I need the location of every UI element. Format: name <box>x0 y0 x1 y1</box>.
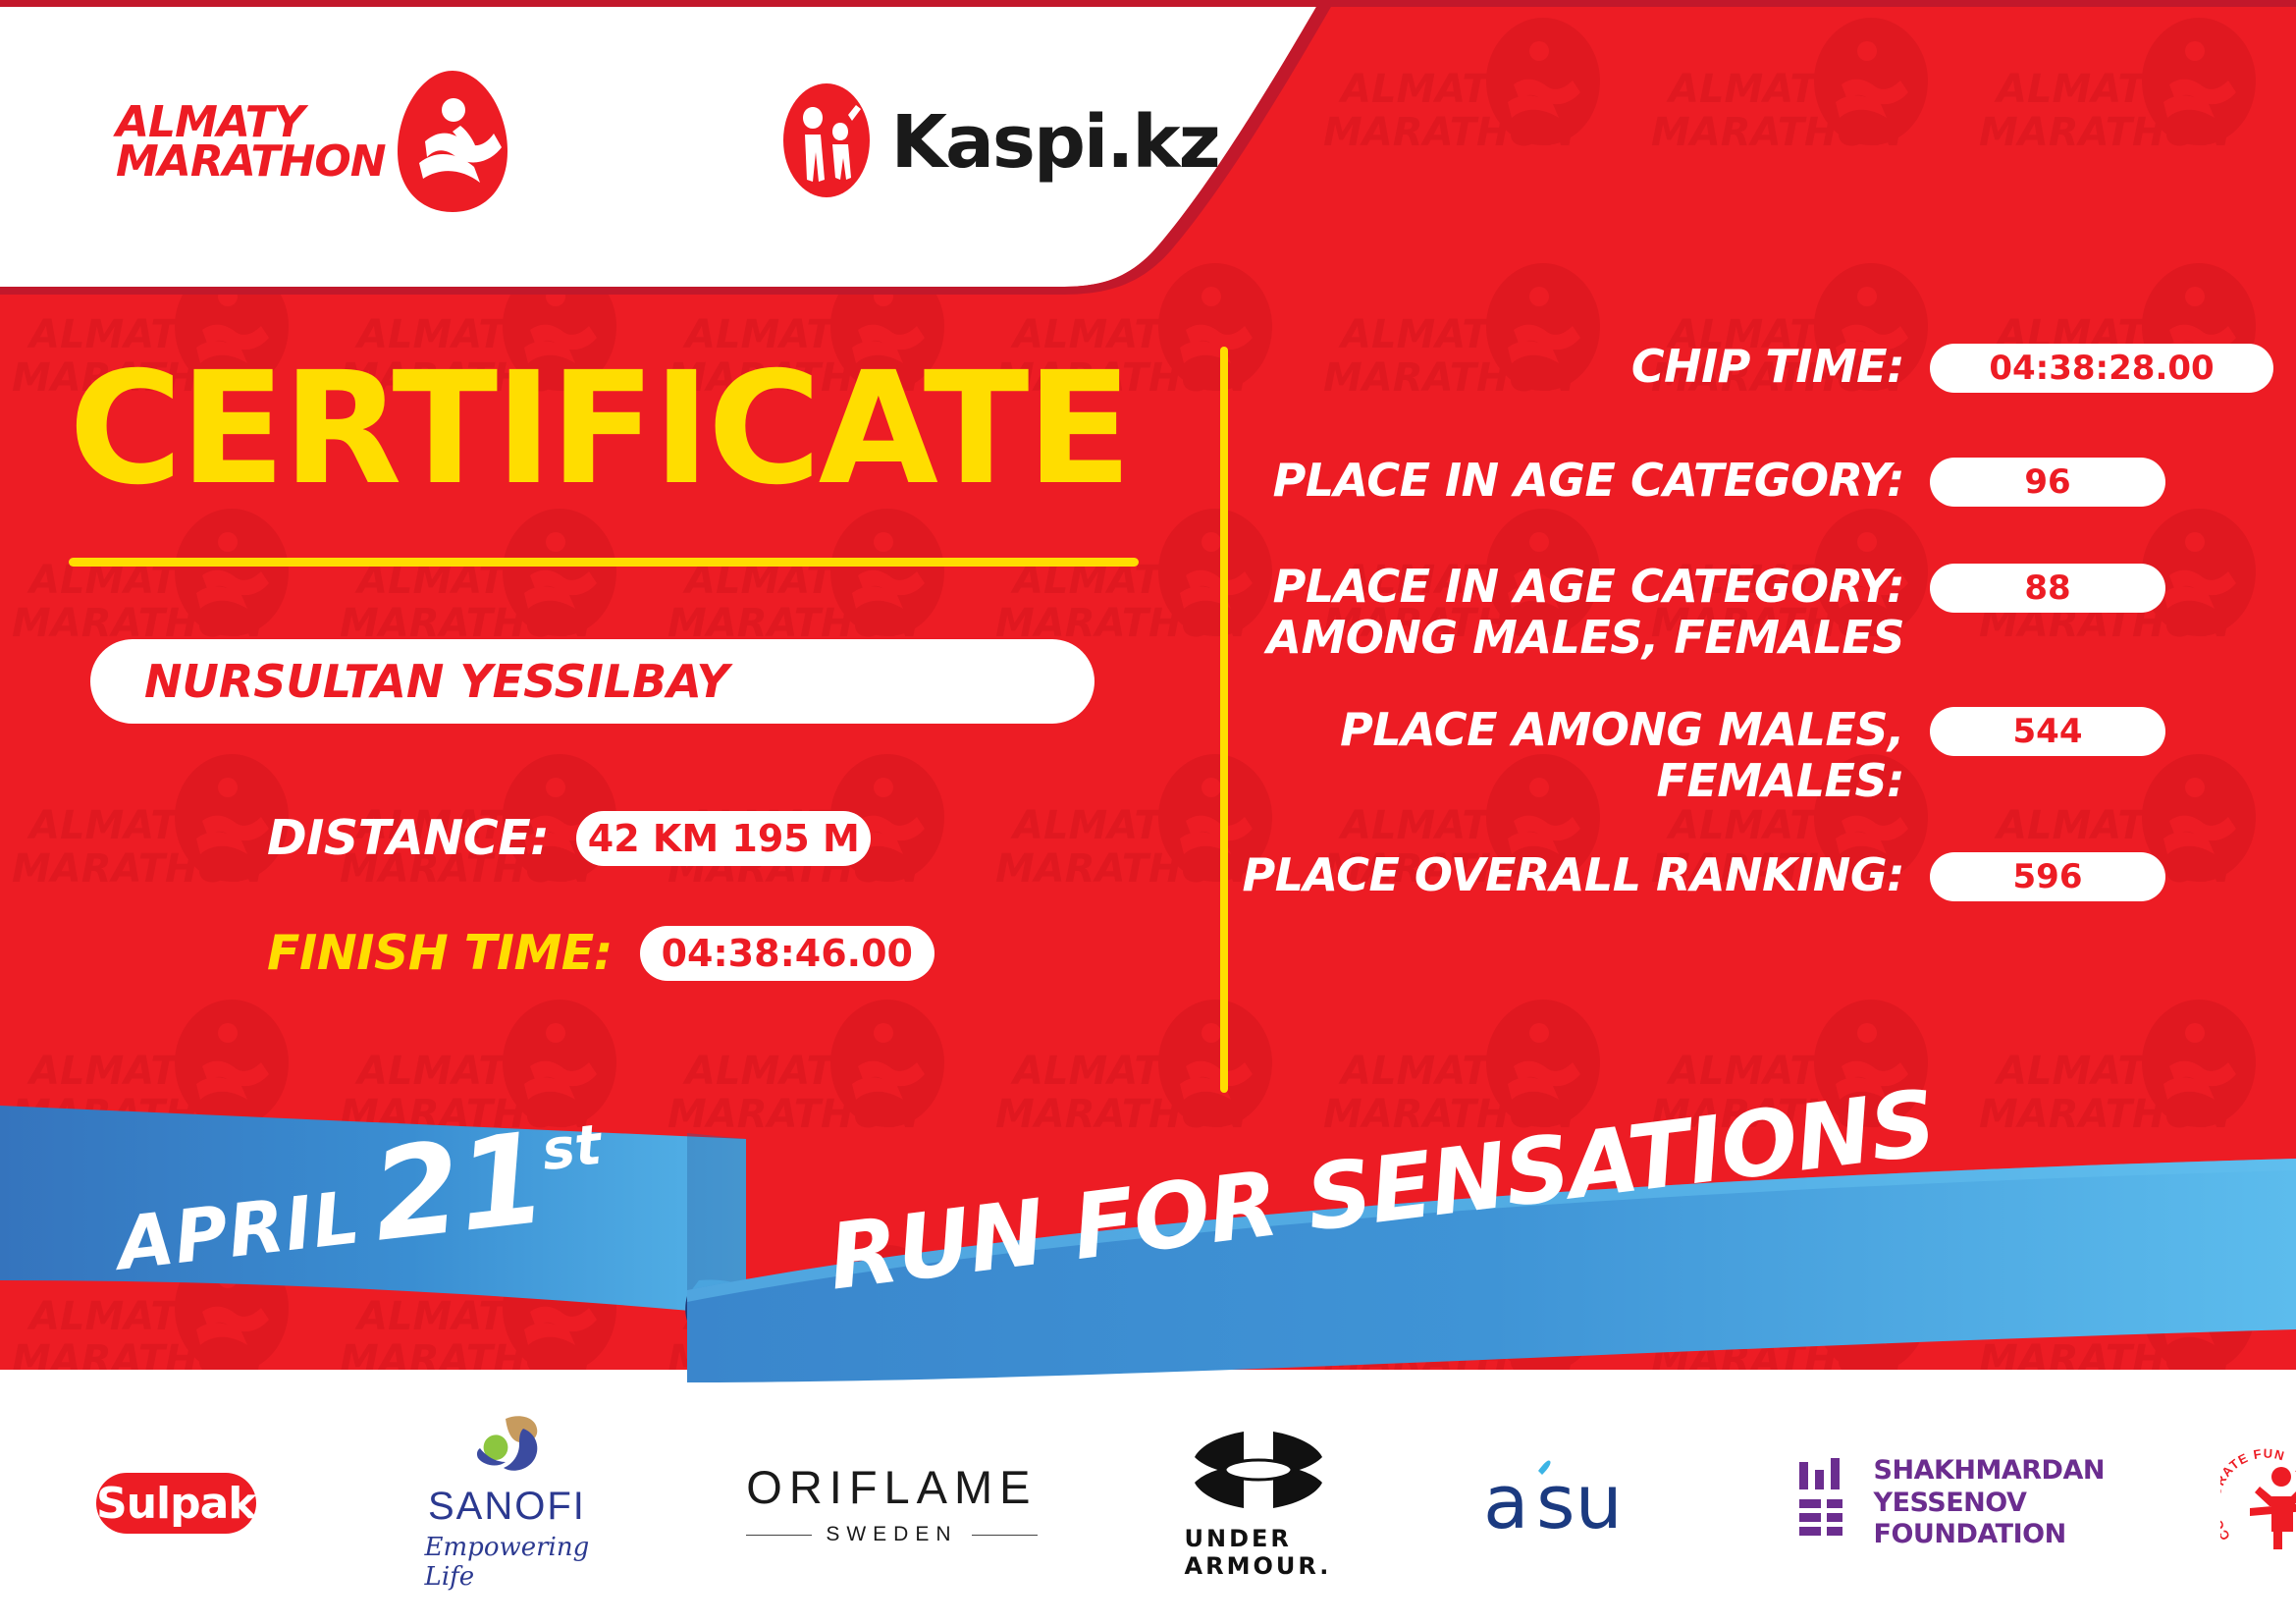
finish-time-value: 04:38:46.00 <box>662 932 913 975</box>
oriflame-wordmark: ORIFLAME <box>746 1460 1037 1514</box>
page-title: CERTIFICATE <box>61 352 1217 507</box>
top-accent-rule <box>0 0 2296 7</box>
stat-value-pill: 88 <box>1930 564 2165 613</box>
stat-label-line1: CHIP TIME: <box>1631 340 1904 393</box>
stat-value-pill: 04:38:28.00 <box>1930 344 2273 393</box>
stat-label: CHIP TIME: <box>1217 342 1904 393</box>
stat-value: 04:38:28.00 <box>1989 349 2214 388</box>
kaspi-people-icon <box>779 80 874 206</box>
sponsor-bar: Sulpak SANOFI Empowering Life ORIFLAME S… <box>0 1382 2296 1624</box>
stat-label-line1: PLACE IN AGE CATEGORY: <box>1273 560 1904 613</box>
oriflame-rule-left <box>746 1535 812 1536</box>
title-underline <box>69 558 1139 567</box>
oriflame-sub: SWEDEN <box>746 1523 1037 1546</box>
certificate-page: ALMATY MARATHON ALMATY MARATHON <box>0 0 2296 1624</box>
yessenov-line1: SHAKHMARDAN YESSENOV <box>1874 1455 2105 1519</box>
under-armour-wordmark: UNDER ARMOUR. <box>1185 1525 1332 1580</box>
ribbon-day: 21 <box>365 1106 552 1271</box>
stat-label-line1: PLACE OVERALL RANKING: <box>1243 848 1905 901</box>
distance-value-pill: 42 KM 195 M <box>576 811 871 866</box>
sulpak-wordmark: Sulpak <box>96 1479 256 1529</box>
sponsor-sulpak: Sulpak <box>96 1473 256 1534</box>
stat-value-pill: 596 <box>1930 852 2165 901</box>
oriflame-rule-right <box>972 1535 1038 1536</box>
runner-drop-icon <box>392 67 514 219</box>
finish-time-row: FINISH TIME: 04:38:46.00 <box>267 925 1217 981</box>
stat-value: 544 <box>2013 712 2083 751</box>
stat-value: 596 <box>2013 857 2083 896</box>
stat-row-place-overall-ranking: PLACE OVERALL RANKING: 596 <box>1217 850 2296 901</box>
participant-name-field: NURSULTAN YESSILBAY <box>90 639 1095 724</box>
yessenov-line2: FOUNDATION <box>1874 1519 2105 1550</box>
sponsor-under-armour: UNDER ARMOUR. <box>1185 1428 1332 1580</box>
stat-label: PLACE IN AGE CATEGORY: <box>1217 456 1904 507</box>
finish-time-value-pill: 04:38:46.00 <box>640 926 934 981</box>
stat-row-chip-time: CHIP TIME: 04:38:28.00 <box>1217 342 2296 393</box>
stat-label-line2: AMONG MALES, FEMALES <box>1217 613 1904 664</box>
stat-value-pill: 544 <box>1930 707 2165 756</box>
stat-label-line2: FEMALES: <box>1217 756 1904 807</box>
yessenov-icon <box>1793 1456 1852 1549</box>
stat-label-line1: PLACE IN AGE CATEGORY: <box>1273 454 1904 507</box>
sponsor-asu: a su <box>1479 1457 1656 1550</box>
oriflame-country: SWEDEN <box>812 1523 971 1546</box>
stat-label: PLACE IN AGE CATEGORY: AMONG MALES, FEMA… <box>1217 562 1904 664</box>
distance-label: DISTANCE: <box>267 810 549 866</box>
stat-row-place-age-category: PLACE IN AGE CATEGORY: 96 <box>1217 456 2296 507</box>
left-column: CERTIFICATE NURSULTAN YESSILBAY DISTANCE… <box>0 295 1217 1276</box>
sanofi-wordmark: SANOFI <box>428 1485 586 1529</box>
stats-list: CHIP TIME: 04:38:28.00 PLACE IN AGE CATE… <box>1217 342 2296 919</box>
ribbon-day-suffix: st <box>539 1113 605 1183</box>
distance-value: 42 KM 195 M <box>588 817 860 860</box>
sponsor-yessenov-foundation: SHAKHMARDAN YESSENOV FOUNDATION <box>1793 1455 2105 1550</box>
stat-row-place-age-category-among: PLACE IN AGE CATEGORY: AMONG MALES, FEMA… <box>1217 562 2296 664</box>
stat-row-place-among-males-females: PLACE AMONG MALES, FEMALES: 544 <box>1217 705 2296 807</box>
stat-value: 96 <box>2024 462 2070 502</box>
participant-name: NURSULTAN YESSILBAY <box>90 655 729 708</box>
kaspi-logo: Kaspi.kz <box>779 80 1219 206</box>
sponsor-sanofi: SANOFI Empowering Life <box>425 1415 590 1592</box>
stat-value-pill: 96 <box>1930 458 2165 507</box>
stat-label: PLACE OVERALL RANKING: <box>1217 850 1904 901</box>
yessenov-wordmark: SHAKHMARDAN YESSENOV FOUNDATION <box>1874 1455 2105 1550</box>
almaty-marathon-wordmark: ALMATY MARATHON <box>116 103 386 183</box>
courage-runner-icon: CORPORATE FUND <box>2220 1447 2296 1560</box>
under-armour-icon <box>1185 1428 1332 1517</box>
sponsor-oriflame: ORIFLAME SWEDEN <box>746 1460 1037 1546</box>
stat-value: 88 <box>2024 568 2070 608</box>
svg-text:a: a <box>1483 1458 1529 1545</box>
ribbon-month: APRIL <box>113 1175 364 1287</box>
sponsor-courage-fund: CORPORATE FUND COURAGE TO BE THE FIRST! <box>2220 1440 2296 1565</box>
stat-label: PLACE AMONG MALES, FEMALES: <box>1217 705 1904 807</box>
sanofi-icon <box>462 1415 551 1481</box>
almaty-marathon-logo: ALMATY MARATHON <box>116 67 514 219</box>
finish-time-label: FINISH TIME: <box>267 925 613 981</box>
stat-label-line1: PLACE AMONG MALES, <box>1340 703 1904 756</box>
header-bar: ALMATY MARATHON <box>0 0 2296 285</box>
column-divider <box>1220 347 1228 1093</box>
sanofi-tagline: Empowering Life <box>425 1533 590 1592</box>
distance-row: DISTANCE: 42 KM 195 M <box>267 810 1217 866</box>
svg-text:su: su <box>1536 1458 1623 1545</box>
kaspi-wordmark: Kaspi.kz <box>891 100 1219 185</box>
logo-line-marathon: MARATHON <box>116 142 386 182</box>
